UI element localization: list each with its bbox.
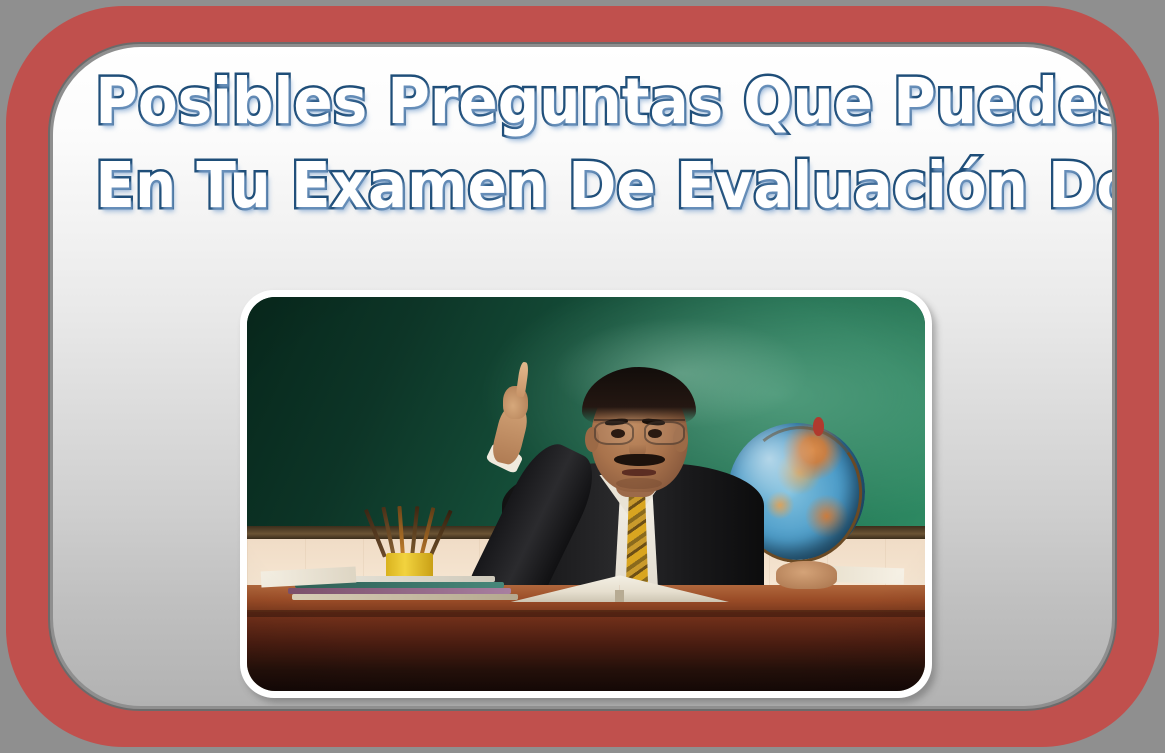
open-book-page-right	[620, 567, 735, 602]
pencil	[410, 506, 419, 557]
pencils	[372, 506, 447, 557]
classroom-photo	[247, 297, 925, 691]
open-book-spine	[615, 590, 624, 602]
teacher-chin	[616, 478, 662, 489]
classroom-photo-frame	[240, 290, 932, 698]
poster-inner-panel: Posibles Preguntas Que Puedes Encontrar …	[53, 47, 1112, 706]
poster-title: Posibles Preguntas Que Puedes Encontrar …	[53, 69, 1112, 218]
title-line-2: En Tu Examen De Evaluación Docente	[95, 153, 1069, 219]
teacher-mouth	[622, 469, 656, 476]
title-line-1: Posibles Preguntas Que Puedes Encontrar	[95, 69, 1069, 135]
teacher-eye-left	[611, 429, 625, 438]
pencil	[397, 506, 404, 557]
teacher-resting-hand	[776, 561, 837, 589]
open-book-page-left	[505, 567, 620, 602]
open-book	[505, 567, 736, 602]
teacher-pointing-finger	[516, 361, 530, 397]
book	[292, 594, 518, 600]
teacher-hair	[582, 367, 696, 424]
poster-canvas: Posibles Preguntas Que Puedes Encontrar …	[0, 0, 1165, 753]
desk-front-edge	[247, 610, 925, 616]
teacher-eye-right	[648, 429, 662, 438]
